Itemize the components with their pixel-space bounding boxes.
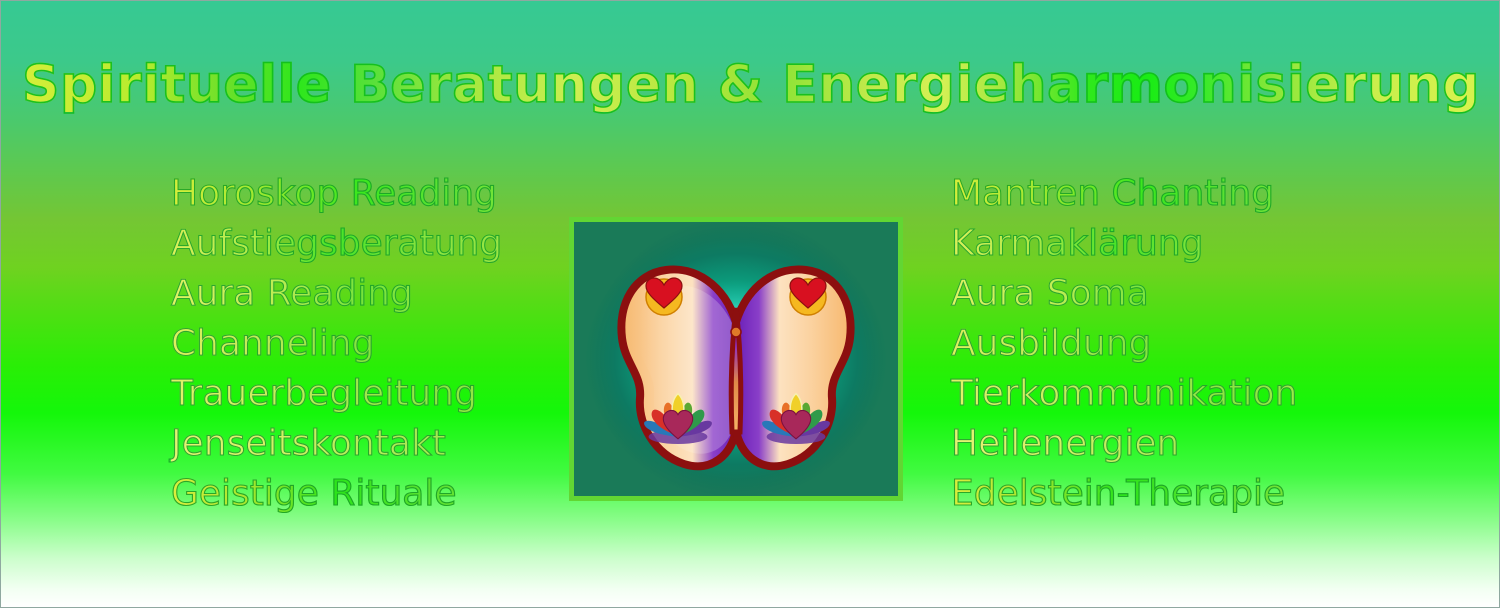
service-item[interactable]: Aura Reading <box>171 269 561 319</box>
service-item[interactable]: Ausbildung <box>951 319 1351 369</box>
service-item[interactable]: Aura Soma <box>951 269 1351 319</box>
service-item[interactable]: Mantren Chanting <box>951 169 1351 219</box>
left-heart-badge <box>646 278 682 315</box>
service-item[interactable]: Edelstein-Therapie <box>951 469 1351 519</box>
service-item[interactable]: Trauerbegleitung <box>171 369 561 419</box>
right-heart-badge <box>790 278 826 315</box>
butterfly-aura-image <box>569 217 903 501</box>
service-item[interactable]: Geistige Rituale <box>171 469 561 519</box>
service-item[interactable]: Heilenergien <box>951 419 1351 469</box>
service-item[interactable]: Horoskop Reading <box>171 169 561 219</box>
service-item[interactable]: Tierkommunikation <box>951 369 1351 419</box>
service-item[interactable]: Karmaklärung <box>951 219 1351 269</box>
service-item[interactable]: Channeling <box>171 319 561 369</box>
service-item[interactable]: Jenseitskontakt <box>171 419 561 469</box>
page-title: Spirituelle Beratungen & Energieharmonis… <box>22 58 1480 113</box>
butterfly-aura-svg <box>574 222 898 496</box>
title-container: Spirituelle Beratungen & Energieharmonis… <box>1 23 1500 147</box>
service-item[interactable]: Aufstiegsberatung <box>171 219 561 269</box>
spine-bead <box>731 327 741 337</box>
spiritual-services-banner: Spirituelle Beratungen & Energieharmonis… <box>0 0 1500 608</box>
left-services-column: Horoskop Reading Aufstiegsberatung Aura … <box>171 169 561 519</box>
right-services-column: Mantren Chanting Karmaklärung Aura Soma … <box>951 169 1351 519</box>
